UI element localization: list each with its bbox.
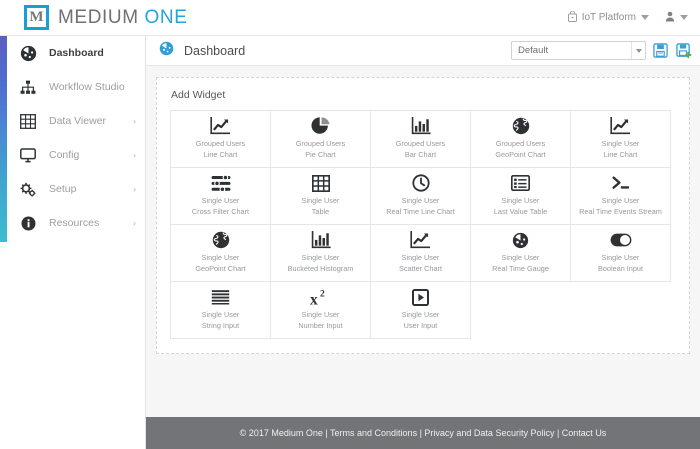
user-icon [665,11,675,25]
platform-label: IoT Platform [582,12,636,23]
widget-tile-scope: Single User [402,310,440,321]
widget-tile-scope: Single User [402,253,440,264]
widget-tile-scope: Single User [502,253,540,264]
pie-chart-icon [311,117,330,135]
sidebar: DashboardWorkflow StudioData Viewer›Conf… [0,36,146,449]
info-icon [18,214,38,232]
widget-tile-grid: Grouped UsersLine ChartGrouped UsersPie … [171,111,671,339]
sidebar-item-label: Config [49,149,79,161]
footer-text[interactable]: © 2017 Medium One | Terms and Conditions… [240,428,607,438]
clock-icon [412,174,430,192]
widget-tile-scope: Single User [302,196,340,207]
widget-tile[interactable]: Single UserReal Time Events Stream [570,167,671,225]
widget-tile[interactable]: Grouped UsersGeoPoint Chart [470,110,571,168]
save-icon [653,43,668,58]
widget-tile[interactable]: Single UserReal Time Line Chart [370,167,471,225]
brand-logo[interactable]: M MEDIUM ONE [24,5,188,30]
globe-icon [212,231,230,249]
app-window: M MEDIUM ONE IoT Platform DashboardWorkf… [0,0,700,449]
widget-tile[interactable]: Single UserGeoPoint Chart [170,224,271,282]
dashboard-select-caret[interactable] [631,42,645,59]
widget-tile-type: Table [312,207,329,218]
widget-tile[interactable]: Single UserString Input [170,281,271,339]
widget-tile-type: GeoPoint Chart [195,264,245,275]
widget-tile-scope: Single User [202,310,240,321]
line-chart-icon [610,117,631,135]
sliders-icon [211,174,231,192]
widget-tile[interactable]: Single UserLine Chart [570,110,671,168]
chevron-down-icon[interactable] [641,15,649,20]
gears-icon [18,180,38,198]
widget-tile[interactable]: Single UserBucketed Histogram [270,224,371,282]
top-header-bar: M MEDIUM ONE IoT Platform [0,0,700,36]
svg-text:x: x [310,291,318,306]
chevron-down-icon[interactable] [680,15,688,20]
widget-tile[interactable]: Single UserReal Time Gauge [470,224,571,282]
widget-tile[interactable]: Single UserTable [270,167,371,225]
chevron-right-icon[interactable]: › [133,219,136,228]
widget-tile-type: String Input [202,321,239,332]
bar-chart-icon [311,231,331,249]
widget-tile[interactable]: Single UserCross Filter Chart [170,167,271,225]
widget-tile-scope: Single User [602,196,640,207]
widget-tile[interactable]: Single UserLast Value Table [470,167,571,225]
list-table-icon [511,174,530,192]
main-content: Dashboard Default Add Widget Grouped Use… [146,36,700,449]
widget-tile-scope: Grouped Users [496,139,545,150]
widget-tile-type: Last Value Table [494,207,547,218]
widget-tile-type: Real Time Events Stream [579,207,662,218]
text-lines-icon [211,288,230,306]
widget-tile-type: Line Chart [604,150,638,161]
add-widget-title: Add Widget [171,89,675,101]
user-menu[interactable] [665,11,688,25]
widget-tile-scope: Single User [402,196,440,207]
play-box-icon [412,288,429,306]
sidebar-item-label: Setup [49,183,76,195]
platform-selector[interactable]: IoT Platform [568,11,649,25]
widget-tile-type: Pie Chart [305,150,335,161]
widget-tile-scope: Single User [302,253,340,264]
page-title-group: Dashboard [159,41,245,61]
logo-mark-icon: M [24,5,49,30]
line-chart-icon [410,231,431,249]
header-actions: IoT Platform [568,11,688,25]
svg-text:2: 2 [320,289,325,299]
save-add-icon [676,43,692,59]
widget-tile-type: Real Time Gauge [492,264,549,275]
sidebar-item-label: Workflow Studio [49,81,125,93]
widget-tile-type: User Input [404,321,438,332]
widget-tile-type: GeoPoint Chart [495,150,545,161]
page-header-actions: Default [511,41,692,60]
widget-tile-type: Number Input [298,321,342,332]
gauge-icon [18,44,38,62]
brand-medium-text: MEDIUM [58,7,139,28]
widget-tile-type: Real Time Line Chart [386,207,455,218]
save-dashboard-button[interactable] [652,42,669,59]
add-widget-panel: Add Widget Grouped UsersLine ChartGroupe… [156,77,690,354]
widget-tile[interactable]: Single UserBoolean Input [570,224,671,282]
dashboard-select[interactable]: Default [511,41,646,60]
monitor-icon [18,146,38,164]
widget-tile[interactable]: Single UserUser Input [370,281,471,339]
gauge-icon [512,231,529,249]
widget-tile[interactable]: x2Single UserNumber Input [270,281,371,339]
footer: © 2017 Medium One | Terms and Conditions… [146,417,700,449]
widget-tile-type: Line Chart [204,150,238,161]
sidebar-item-resources[interactable]: Resources› [0,206,146,240]
sidebar-item-label: Dashboard [49,47,104,59]
widget-tile[interactable]: Grouped UsersBar Chart [370,110,471,168]
widget-tile[interactable]: Single UserScatter Chart [370,224,471,282]
chevron-right-icon[interactable]: › [133,151,136,160]
widget-tile-scope: Single User [202,196,240,207]
widget-tile-scope: Single User [202,253,240,264]
chevron-down-icon [636,49,642,53]
widget-tile-scope: Grouped Users [396,139,445,150]
widget-tile-type: Bucketed Histogram [288,264,354,275]
widget-tile-type: Bar Chart [405,150,436,161]
widget-tile-scope: Single User [502,196,540,207]
sidebar-item-config[interactable]: Config› [0,138,146,172]
widget-panel-wrap: Add Widget Grouped UsersLine ChartGroupe… [146,66,700,354]
sitemap-icon [18,78,38,96]
device-lock-icon [568,11,577,25]
widget-tile-scope: Single User [302,310,340,321]
widget-tile-scope: Single User [602,253,640,264]
globe-icon [512,117,530,135]
save-as-dashboard-button[interactable] [675,42,692,59]
gauge-icon [159,41,174,61]
widget-tile[interactable]: Grouped UsersPie Chart [270,110,371,168]
sidebar-item-setup[interactable]: Setup› [0,172,146,206]
terminal-icon [611,174,631,192]
sidebar-item-label: Resources [49,217,99,229]
superscript-icon: x2 [310,288,332,306]
bar-chart-icon [411,117,431,135]
sidebar-item-workflow-studio[interactable]: Workflow Studio [0,70,146,104]
brand-one-text: ONE [145,7,188,28]
toggle-on-icon [610,231,632,249]
sidebar-item-data-viewer[interactable]: Data Viewer› [0,104,146,138]
grid-table-icon [312,174,330,192]
line-chart-icon [210,117,231,135]
widget-tile-scope: Grouped Users [296,139,345,150]
page-header: Dashboard Default [146,36,700,66]
sidebar-item-dashboard[interactable]: Dashboard [0,36,146,70]
chevron-right-icon[interactable]: › [133,185,136,194]
widget-tile-type: Cross Filter Chart [192,207,249,218]
widget-tile-type: Scatter Chart [399,264,442,275]
dashboard-select-value: Default [512,45,631,56]
widget-tile[interactable]: Grouped UsersLine Chart [170,110,271,168]
chevron-right-icon[interactable]: › [133,117,136,126]
table-icon [18,112,38,130]
sidebar-item-label: Data Viewer [49,115,106,127]
widget-tile-type: Boolean Input [598,264,643,275]
brand-name: MEDIUM ONE [58,7,188,29]
page-title: Dashboard [184,44,245,58]
widget-tile-scope: Grouped Users [196,139,245,150]
sidebar-nav: DashboardWorkflow StudioData Viewer›Conf… [0,36,146,240]
widget-tile-scope: Single User [602,139,640,150]
